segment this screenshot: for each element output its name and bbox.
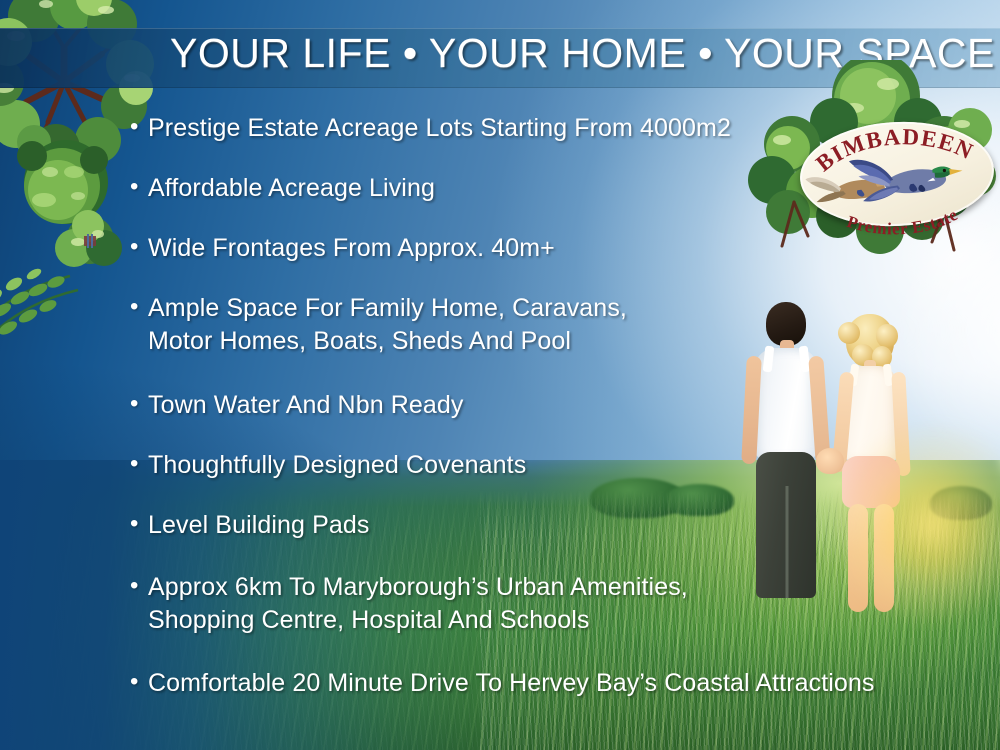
- promotional-poster: YOUR LIFE • YOUR HOME • YOUR SPACE: [0, 0, 1000, 750]
- list-item-label: Approx 6km To Maryborough’s Urban Amenit…: [148, 571, 688, 637]
- bullet-marker: •: [130, 667, 148, 697]
- list-item: • Level Building Pads: [130, 509, 370, 542]
- bullet-marker: •: [130, 232, 148, 262]
- list-item: • Thoughtfully Designed Covenants: [130, 449, 526, 482]
- man-trouser-seam: [786, 486, 789, 598]
- list-item: • Comfortable 20 Minute Drive To Hervey …: [130, 667, 875, 700]
- estate-logo[interactable]: BIMBADEEN Premier Estate: [752, 78, 1000, 268]
- woman-hair-curl: [876, 324, 898, 348]
- list-item-label: Prestige Estate Acreage Lots Starting Fr…: [148, 112, 731, 145]
- bullet-marker: •: [130, 112, 148, 142]
- woman-leg-right: [874, 504, 894, 612]
- held-hands: [816, 448, 844, 474]
- figure-man: [744, 302, 830, 594]
- woman-shorts: [842, 456, 900, 508]
- bullet-marker: •: [130, 172, 148, 202]
- bullet-marker: •: [130, 292, 148, 322]
- logo-brand-text: BIMBADEEN: [811, 124, 977, 176]
- woman-hair-curl: [838, 322, 860, 344]
- list-item: • Approx 6km To Maryborough’s Urban Amen…: [130, 571, 688, 637]
- bullet-marker: •: [130, 449, 148, 479]
- list-item: • Wide Frontages From Approx. 40m+: [130, 232, 555, 265]
- list-item-label: Affordable Acreage Living: [148, 172, 435, 205]
- list-item-label: Thoughtfully Designed Covenants: [148, 449, 526, 482]
- list-item-label: Wide Frontages From Approx. 40m+: [148, 232, 555, 265]
- logo-tagline-text: Premier Estate: [845, 205, 961, 239]
- logo-content: BIMBADEEN Premier Estate: [752, 78, 1000, 268]
- bullet-marker: •: [130, 389, 148, 419]
- woman-leg-left: [848, 504, 868, 612]
- list-item: • Town Water And Nbn Ready: [130, 389, 464, 422]
- list-item: • Ample Space For Family Home, Caravans,…: [130, 292, 627, 358]
- bullet-marker: •: [130, 509, 148, 539]
- list-item: • Prestige Estate Acreage Lots Starting …: [130, 112, 731, 145]
- list-item-label: Level Building Pads: [148, 509, 370, 542]
- list-item-label: Comfortable 20 Minute Drive To Hervey Ba…: [148, 667, 875, 700]
- list-item-label: Ample Space For Family Home, Caravans, M…: [148, 292, 627, 358]
- couple-photo: [738, 296, 938, 596]
- figure-woman: [830, 314, 914, 594]
- bullet-marker: •: [130, 571, 148, 601]
- list-item-label: Town Water And Nbn Ready: [148, 389, 464, 422]
- list-item: • Affordable Acreage Living: [130, 172, 435, 205]
